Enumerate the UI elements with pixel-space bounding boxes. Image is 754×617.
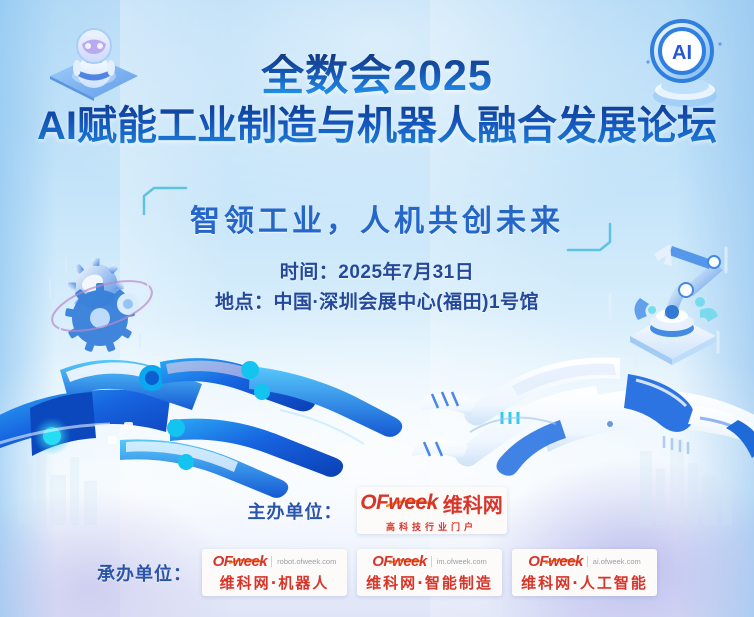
organizer-logo-url: im.ofweek.com	[437, 557, 487, 566]
host-logo-tagline: 高科技行业门户	[386, 520, 477, 533]
organizer-logo-brand-latin: OFweek	[213, 553, 268, 570]
page-subtitle-heading: AI赋能工业制造与机器人融合发展论坛	[0, 104, 754, 149]
host-logo-brand-cn: 维科网	[443, 489, 503, 518]
slogan-text: 智领工业，人机共创未来	[190, 205, 564, 238]
event-time: 时间：2025年7月31日	[0, 258, 754, 288]
organizer-logo-artificial-intelligence[interactable]: OFweek ai.ofweek.com 维科网·人工智能	[512, 549, 657, 596]
event-poster: AI	[0, 0, 754, 617]
organizer-logo-brand-cn: 维科网·人工智能	[521, 572, 648, 593]
host-label: 主办单位：	[248, 498, 343, 524]
bracket-left-icon	[142, 186, 188, 216]
page-title: 全数会2025	[0, 54, 754, 100]
poster-title-block: 全数会2025 AI赋能工业制造与机器人融合发展论坛	[0, 54, 754, 148]
organizer-row: 承办单位： OFweek robot.ofweek.com 维科网·机器人 OF…	[0, 549, 754, 596]
organizer-label: 承办单位：	[97, 560, 192, 586]
organizer-logo-brand-cn: 维科网·机器人	[220, 572, 330, 593]
host-row: 主办单位： OFweek 维科网 高科技行业门户	[0, 487, 754, 534]
organizer-logo-url: ai.ofweek.com	[593, 557, 641, 566]
organizer-logo-brand-cn: 维科网·智能制造	[366, 572, 493, 593]
event-info-block: 时间：2025年7月31日 地点：中国·深圳会展中心(福田)1号馆	[0, 258, 754, 318]
organizer-logo-brand-latin: OFweek	[372, 553, 427, 570]
organizer-logo-intelligent-manufacturing[interactable]: OFweek im.ofweek.com 维科网·智能制造	[357, 549, 502, 596]
event-location: 地点：中国·深圳会展中心(福田)1号馆	[0, 288, 754, 318]
bracket-right-icon	[566, 222, 612, 252]
host-logo-brand-latin: OFweek	[360, 491, 438, 515]
host-logo-ofweek[interactable]: OFweek 维科网 高科技行业门户	[357, 487, 507, 534]
organizer-logo-robot[interactable]: OFweek robot.ofweek.com 维科网·机器人	[202, 549, 347, 596]
organizer-logo-brand-latin: OFweek	[528, 553, 583, 570]
slogan-block: 智领工业，人机共创未来	[0, 190, 754, 248]
organizer-logo-url: robot.ofweek.com	[277, 557, 336, 566]
